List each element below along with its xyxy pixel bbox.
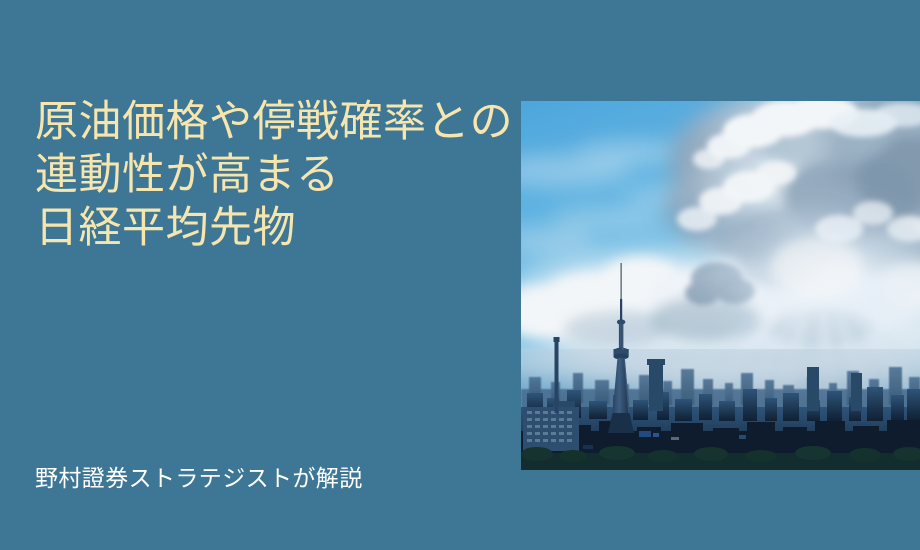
slide-canvas: 原油価格や停戦確率との 連動性が高まる 日経平均先物 野村證券ストラテジストが解… [0,0,920,550]
subtitle-byline: 野村證券ストラテジストが解説 [35,464,363,494]
page-title: 原油価格や停戦確率との 連動性が高まる 日経平均先物 [35,96,505,255]
photo-tone-overlay [521,101,920,470]
headline-line-3: 日経平均先物 [35,202,505,255]
headline-line-1: 原油価格や停戦確率との [35,96,505,149]
hero-photo [521,101,920,470]
headline-line-2: 連動性が高まる [35,149,505,202]
tokyo-skyline-illustration [521,101,920,470]
